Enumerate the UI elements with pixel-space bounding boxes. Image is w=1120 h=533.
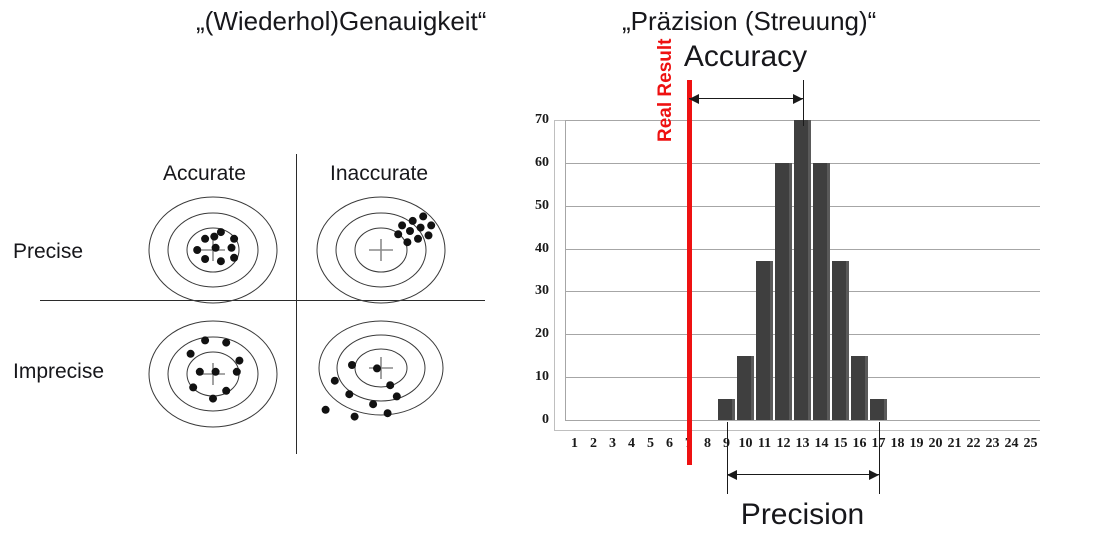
y-tick-label: 50 — [535, 198, 549, 214]
accuracy-end-marker — [803, 80, 804, 126]
page-title-left: „(Wiederhol)Genauigkeit“ — [196, 6, 486, 37]
x-tick-label: 12 — [777, 436, 791, 452]
chart-bar — [756, 261, 773, 420]
precision-start-marker — [727, 422, 728, 494]
real-result-line — [687, 80, 692, 465]
chart-bar — [794, 120, 811, 420]
x-tick-label: 11 — [758, 436, 771, 452]
accuracy-annotation-label: Accuracy — [684, 40, 807, 74]
x-tick-label: 19 — [910, 436, 924, 452]
page-title-right: „Präzision (Streuung)“ — [622, 6, 876, 37]
x-tick-label: 5 — [647, 436, 654, 452]
x-tick-label: 13 — [796, 436, 810, 452]
precision-arrow-head-right — [869, 470, 879, 480]
y-tick-label: 70 — [535, 112, 549, 128]
x-tick-label: 1 — [571, 436, 578, 452]
x-tick-label: 18 — [891, 436, 905, 452]
y-tick-label: 30 — [535, 283, 549, 299]
target-icon-inaccurate-precise — [315, 194, 447, 306]
x-tick-label: 23 — [986, 436, 1000, 452]
x-tick-label: 2 — [590, 436, 597, 452]
chart-bar — [737, 356, 754, 420]
target-dots — [193, 228, 238, 265]
precision-arrow-head-left — [727, 470, 737, 480]
chart-plot-area: 010203040506070 123456789101112131415161… — [565, 120, 1040, 420]
precision-annotation-label: Precision — [741, 498, 864, 532]
x-tick-label: 25 — [1024, 436, 1038, 452]
x-tick-label: 10 — [739, 436, 753, 452]
real-result-label: Real Result — [655, 39, 677, 142]
chart-bar — [813, 163, 830, 420]
accuracy-precision-quadrant: Accurate Inaccurate Precise Imprecise — [0, 140, 500, 460]
precision-histogram-chart: 010203040506070 123456789101112131415161… — [500, 55, 1120, 533]
chart-y-axis — [565, 120, 566, 420]
chart-bar — [851, 356, 868, 420]
x-tick-label: 15 — [834, 436, 848, 452]
quadrant-column-header-accurate: Accurate — [163, 162, 246, 186]
quadrant-row-label-precise: Precise — [13, 240, 83, 264]
y-tick-label: 0 — [542, 412, 549, 428]
x-tick-label: 20 — [929, 436, 943, 452]
y-tick-label: 10 — [535, 369, 549, 385]
target-icon-inaccurate-imprecise — [315, 318, 447, 430]
x-tick-label: 14 — [815, 436, 829, 452]
chart-bar — [870, 399, 887, 420]
target-dots — [322, 361, 401, 421]
chart-floor-bevel — [554, 420, 1040, 431]
quadrant-vertical-divider — [296, 154, 297, 454]
accuracy-arrow-head-left — [689, 94, 699, 104]
x-tick-label: 6 — [666, 436, 673, 452]
chart-axis-bevel — [554, 120, 565, 420]
quadrant-row-label-imprecise: Imprecise — [13, 360, 104, 384]
x-tick-label: 22 — [967, 436, 981, 452]
precision-arrow-line — [727, 474, 879, 475]
y-tick-label: 40 — [535, 241, 549, 257]
accuracy-arrow-line — [689, 98, 803, 99]
target-icon-accurate-imprecise — [147, 318, 279, 430]
accuracy-arrow-head-right — [793, 94, 803, 104]
chart-bar — [718, 399, 735, 420]
x-tick-label: 24 — [1005, 436, 1019, 452]
x-tick-label: 3 — [609, 436, 616, 452]
y-tick-label: 20 — [535, 326, 549, 342]
y-tick-label: 60 — [535, 155, 549, 171]
target-icon-accurate-precise — [147, 194, 279, 306]
chart-bar — [775, 163, 792, 420]
quadrant-column-header-inaccurate: Inaccurate — [330, 162, 428, 186]
x-tick-label: 21 — [948, 436, 962, 452]
x-tick-label: 4 — [628, 436, 635, 452]
target-dots — [187, 336, 244, 402]
x-tick-label: 16 — [853, 436, 867, 452]
precision-end-marker — [879, 422, 880, 494]
x-tick-label: 8 — [704, 436, 711, 452]
chart-bar — [832, 261, 849, 420]
target-dots — [394, 212, 435, 246]
gridline — [565, 420, 1040, 421]
